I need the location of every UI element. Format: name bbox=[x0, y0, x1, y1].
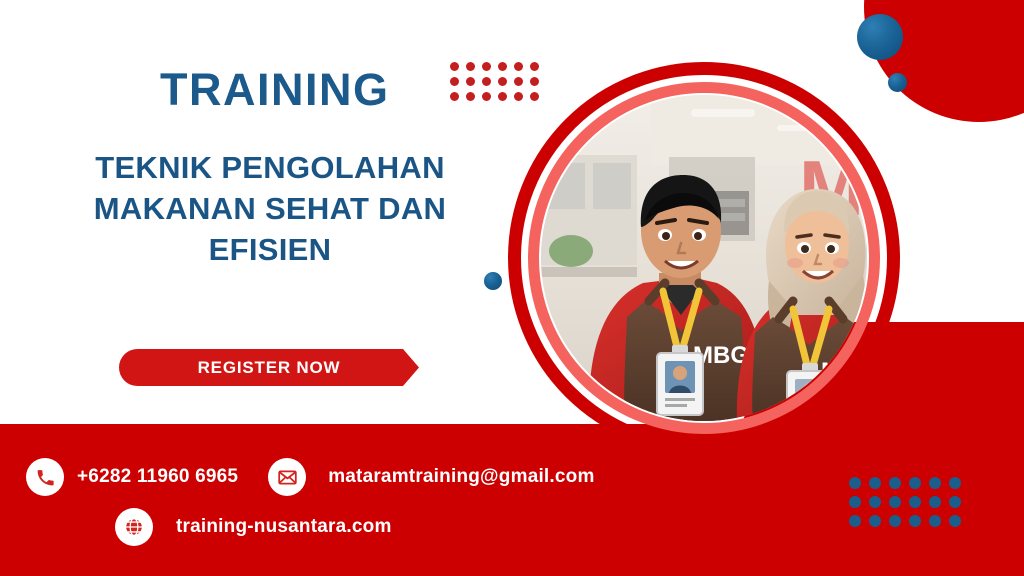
phone-icon[interactable] bbox=[26, 458, 64, 496]
email-icon[interactable] bbox=[268, 458, 306, 496]
blue-dot-grid-decoration bbox=[849, 477, 961, 527]
promo-banner: TRAINING TEKNIK PENGOLAHAN MAKANAN SEHAT… bbox=[0, 0, 1024, 576]
register-now-button[interactable]: REGISTER NOW bbox=[119, 349, 419, 386]
contact-row-primary: +6282 11960 6965 mataramtraining@gmail.c… bbox=[26, 458, 595, 496]
workers-illustration: M bbox=[541, 95, 867, 421]
globe-icon[interactable] bbox=[115, 508, 153, 546]
contact-row-website: training-nusantara.com bbox=[115, 508, 392, 546]
email-address[interactable]: mataramtraining@gmail.com bbox=[328, 466, 594, 488]
website-url[interactable]: training-nusantara.com bbox=[176, 516, 392, 538]
blue-circle-large-decoration bbox=[857, 14, 903, 60]
hero-photo-frame: M bbox=[508, 62, 900, 454]
hero-photo: M bbox=[541, 95, 867, 421]
phone-number[interactable]: +6282 11960 6965 bbox=[77, 466, 238, 488]
page-subtitle: TEKNIK PENGOLAHAN MAKANAN SEHAT DAN EFIS… bbox=[40, 148, 500, 271]
blue-dot-decoration bbox=[484, 272, 502, 290]
page-title: TRAINING bbox=[160, 64, 390, 116]
